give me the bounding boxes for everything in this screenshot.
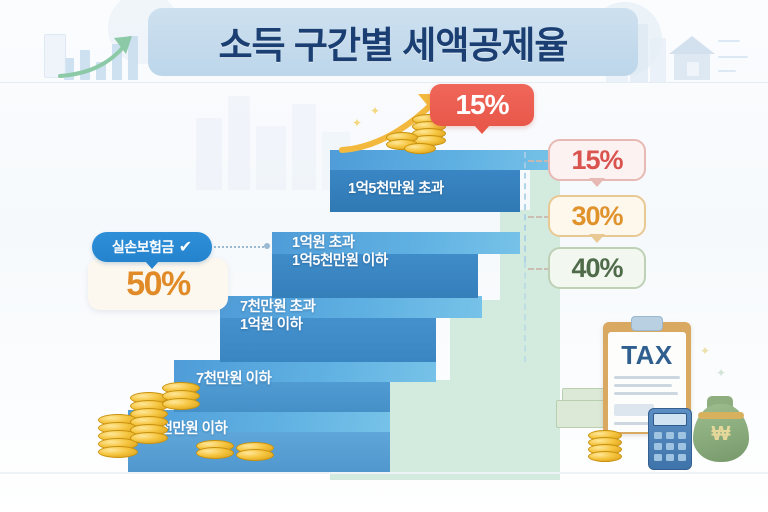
calculator-key bbox=[666, 443, 674, 450]
clipboard-text-line-2 bbox=[614, 384, 672, 387]
top-rate-badge-value: 15% bbox=[455, 89, 508, 121]
deco-growth-arrow-icon bbox=[56, 22, 150, 82]
step-5-label: 1억5천만원 초과 bbox=[348, 180, 548, 198]
building-mid-3 bbox=[256, 126, 286, 190]
calculator-key bbox=[666, 454, 674, 461]
deco-line-right-1 bbox=[718, 40, 740, 42]
sparkle-2: ✦ bbox=[370, 104, 380, 118]
coin-stack-bottom-right bbox=[162, 382, 206, 422]
calculator-key bbox=[654, 443, 662, 450]
ground-line-top bbox=[0, 82, 768, 83]
building-mid-1 bbox=[196, 118, 222, 190]
sparkle-3: ✦ bbox=[700, 344, 710, 358]
deco-line-right-2 bbox=[718, 56, 748, 58]
rate-badge-30-tail bbox=[589, 234, 605, 243]
calculator-key bbox=[654, 432, 662, 439]
money-bag-tie bbox=[698, 412, 744, 419]
calculator-key bbox=[654, 454, 662, 461]
calculator-key bbox=[678, 454, 686, 461]
step-1-label: 7천만원 이하 bbox=[152, 420, 352, 438]
coin-stack-right bbox=[588, 430, 628, 466]
callout-leader-dot bbox=[264, 243, 270, 249]
sparkle-1: ✦ bbox=[352, 116, 362, 130]
clipboard-clip-icon bbox=[631, 316, 663, 331]
clipboard-tax-label: TAX bbox=[608, 340, 686, 371]
calculator-screen bbox=[653, 413, 687, 426]
rate-badge-15[interactable]: 15% bbox=[548, 139, 646, 181]
infographic-canvas: 소득 구간별 세액공제율 7천만원 이하 7천만원 이하 7천만원 초과 1억원… bbox=[0, 0, 768, 512]
building-mid-4 bbox=[292, 104, 316, 190]
clipboard-text-line-1 bbox=[614, 376, 680, 379]
step-3-label: 7천만원 초과 1억원 이하 bbox=[240, 298, 440, 334]
rate-badge-15-tail bbox=[589, 178, 605, 187]
rate-badge-30-value: 30% bbox=[571, 201, 622, 232]
won-symbol-icon: ₩ bbox=[693, 423, 749, 446]
top-rate-badge[interactable]: 15% bbox=[430, 84, 534, 126]
step-4-label: 1억원 초과 1억5천만원 이하 bbox=[292, 234, 502, 270]
deco-line-right-3 bbox=[718, 70, 736, 72]
insurance-callout-pill[interactable]: 실손보험금 ✔ bbox=[92, 232, 212, 262]
coin-stack-step1-front bbox=[196, 440, 282, 466]
building-right-3 bbox=[650, 38, 666, 82]
sparkle-4: ✦ bbox=[716, 366, 726, 380]
step-2-label: 7천만원 이하 bbox=[196, 370, 396, 388]
building-mid-2 bbox=[228, 96, 250, 190]
callout-leader-line bbox=[206, 246, 268, 248]
guide-vertical-1 bbox=[524, 152, 526, 262]
insurance-callout-label: 실손보험금 bbox=[112, 237, 174, 257]
check-icon: ✔ bbox=[179, 237, 192, 257]
rate-badge-30[interactable]: 30% bbox=[548, 195, 646, 237]
guide-badge-15 bbox=[528, 160, 550, 162]
rate-badge-40-value: 40% bbox=[571, 253, 622, 284]
calculator-key bbox=[678, 432, 686, 439]
calculator-key bbox=[666, 432, 674, 439]
guide-vertical-2 bbox=[524, 262, 526, 362]
clipboard-text-line-3 bbox=[614, 392, 678, 395]
insurance-callout-value: 50% bbox=[126, 265, 190, 304]
guide-badge-30 bbox=[528, 216, 550, 218]
guide-badge-40 bbox=[528, 268, 550, 270]
ground-line-bottom bbox=[0, 472, 768, 474]
rate-badge-40[interactable]: 40% bbox=[548, 247, 646, 289]
page-title: 소득 구간별 세액공제율 bbox=[148, 8, 638, 76]
top-rate-badge-tail bbox=[474, 125, 490, 134]
rate-badge-15-value: 15% bbox=[571, 145, 622, 176]
calculator-key bbox=[678, 443, 686, 450]
insurance-callout-tail bbox=[145, 261, 159, 269]
house-icon bbox=[668, 34, 716, 82]
